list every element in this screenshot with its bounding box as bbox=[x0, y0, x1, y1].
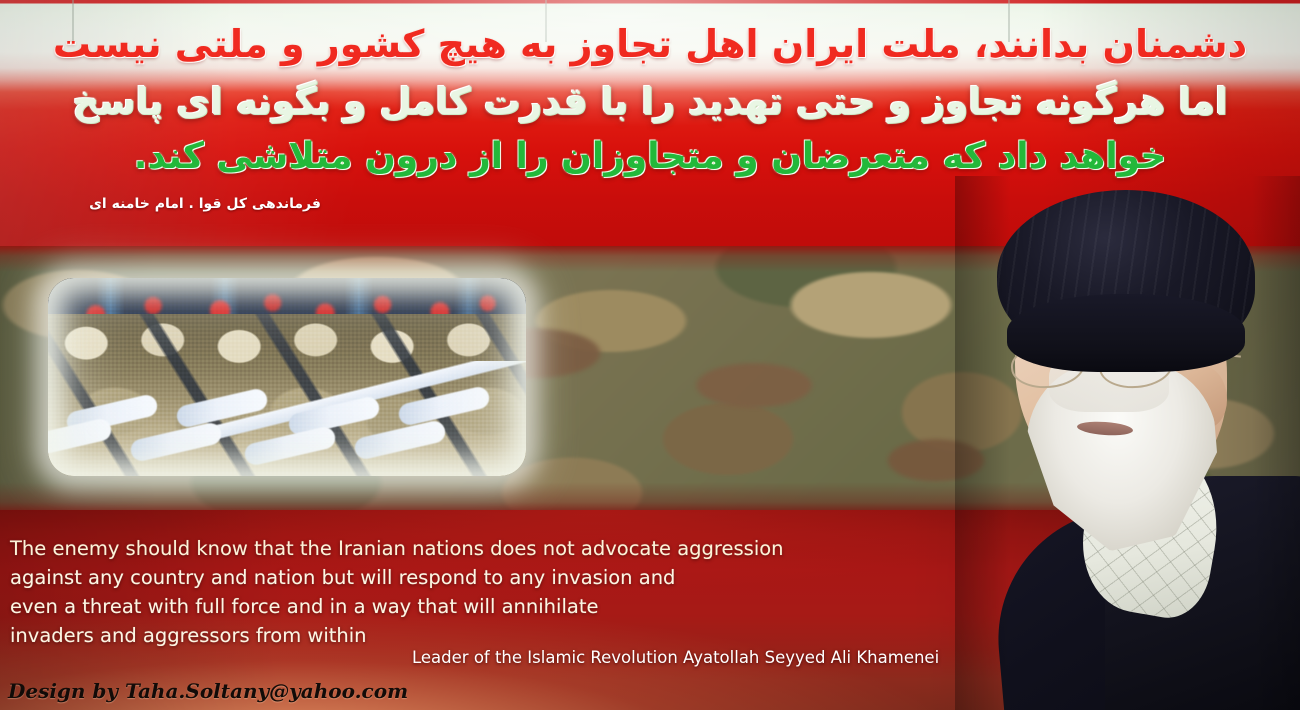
poster-canvas: دشمنان بدانند، ملت ایران اهل تجاوز به هی… bbox=[0, 0, 1300, 710]
portrait-turban-brim bbox=[1007, 294, 1245, 372]
english-quote-line-2: against any country and nation but will … bbox=[10, 563, 910, 592]
english-attribution: Leader of the Islamic Revolution Ayatoll… bbox=[412, 648, 939, 667]
english-quote-line-3: even a threat with full force and in a w… bbox=[10, 592, 910, 621]
english-quote-line-1: The enemy should know that the Iranian n… bbox=[10, 534, 910, 563]
soldiers-parade-photo bbox=[48, 278, 526, 476]
photo-white-vignette bbox=[48, 278, 526, 476]
persian-attribution: فرماندهی کل قوا . امام خامنه ای bbox=[55, 196, 355, 212]
design-credit: Design by Taha.Soltany@yahoo.com bbox=[8, 679, 408, 703]
leader-portrait bbox=[955, 176, 1300, 710]
persian-headline-line-3: خواهد داد که متعرضان و متجاوزان را از در… bbox=[30, 136, 1270, 177]
persian-headline-line-2: اما هرگونه تجاوز و حتی تهدید را با قدرت … bbox=[30, 80, 1270, 123]
persian-headline-line-1: دشمنان بدانند، ملت ایران اهل تجاوز به هی… bbox=[30, 22, 1270, 66]
english-quote-block: The enemy should know that the Iranian n… bbox=[10, 534, 910, 650]
english-quote-line-4: invaders and aggressors from within bbox=[10, 621, 910, 650]
